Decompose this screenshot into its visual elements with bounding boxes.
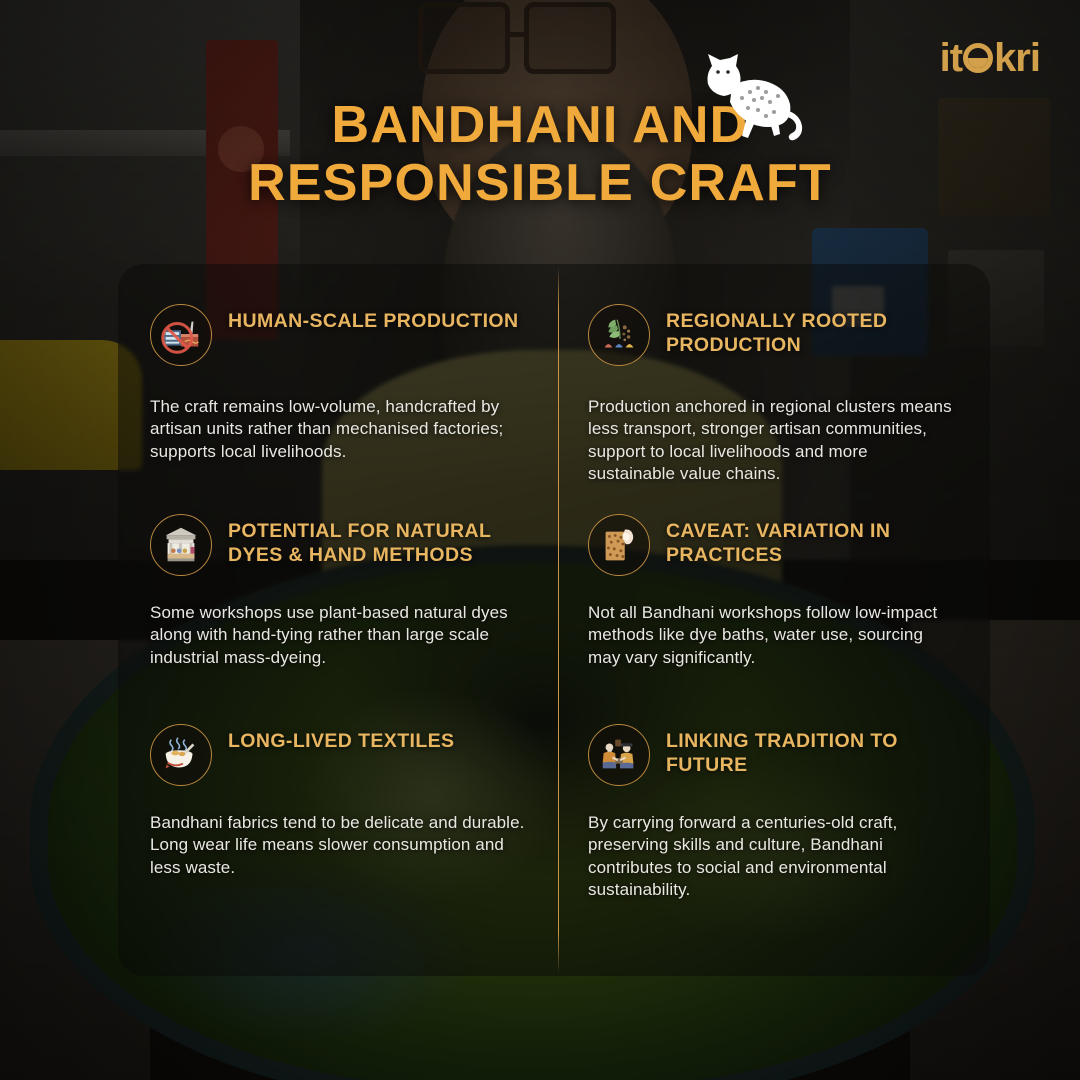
logo-text-post: kri bbox=[994, 38, 1040, 78]
card-body: The craft remains low-volume, handcrafte… bbox=[150, 396, 526, 463]
feature-card: REGIONALLY ROOTED PRODUCTION Production … bbox=[558, 264, 990, 474]
card-header: CAVEAT: VARIATION IN PRACTICES bbox=[588, 514, 958, 576]
two-artisans-icon bbox=[588, 724, 650, 786]
natural-dye-plants-icon bbox=[588, 304, 650, 366]
card-header: LINKING TRADITION TO FUTURE bbox=[588, 724, 958, 786]
cat-illustration-icon bbox=[690, 52, 810, 144]
feature-card-grid: HUMAN-SCALE PRODUCTION The craft remains… bbox=[118, 264, 990, 976]
infographic-poster: itkri BANDHANI AND RESPONSIBLE bbox=[0, 0, 1080, 1080]
title-line-1: BANDHANI AND bbox=[0, 96, 1080, 154]
card-title: REGIONALLY ROOTED PRODUCTION bbox=[666, 304, 958, 358]
card-title: POTENTIAL FOR NATURAL DYES & HAND METHOD… bbox=[228, 514, 526, 568]
steaming-dye-pot-icon bbox=[150, 724, 212, 786]
feature-card: LINKING TRADITION TO FUTURE By carrying … bbox=[558, 684, 990, 914]
feature-card: HUMAN-SCALE PRODUCTION The craft remains… bbox=[118, 264, 558, 474]
card-body: Some workshops use plant-based natural d… bbox=[150, 602, 526, 669]
card-body: Bandhani fabrics tend to be delicate and… bbox=[150, 812, 526, 879]
card-title: CAVEAT: VARIATION IN PRACTICES bbox=[666, 514, 958, 568]
logo-text-pre: it bbox=[940, 38, 962, 78]
card-body: By carrying forward a centuries-old craf… bbox=[588, 812, 958, 902]
card-header: HUMAN-SCALE PRODUCTION bbox=[150, 304, 526, 366]
brand-logo[interactable]: itkri bbox=[940, 38, 1040, 78]
card-body: Not all Bandhani workshops follow low-im… bbox=[588, 602, 958, 669]
no-factory-icon bbox=[150, 304, 212, 366]
feature-card: POTENTIAL FOR NATURAL DYES & HAND METHOD… bbox=[118, 474, 558, 684]
card-header: LONG-LIVED TEXTILES bbox=[150, 724, 526, 786]
card-body: Production anchored in regional clusters… bbox=[588, 396, 958, 486]
workshop-building-icon bbox=[150, 514, 212, 576]
card-title: LONG-LIVED TEXTILES bbox=[228, 724, 454, 754]
bowl-o-icon bbox=[963, 43, 993, 73]
feature-card: LONG-LIVED TEXTILES Bandhani fabrics ten… bbox=[118, 684, 558, 914]
feature-card: CAVEAT: VARIATION IN PRACTICES Not all B… bbox=[558, 474, 990, 684]
card-header: REGIONALLY ROOTED PRODUCTION bbox=[588, 304, 958, 366]
hand-holding-fabric-icon bbox=[588, 514, 650, 576]
card-title: HUMAN-SCALE PRODUCTION bbox=[228, 304, 518, 334]
card-title: LINKING TRADITION TO FUTURE bbox=[666, 724, 958, 778]
card-header: POTENTIAL FOR NATURAL DYES & HAND METHOD… bbox=[150, 514, 526, 576]
title-line-2: RESPONSIBLE CRAFT bbox=[0, 154, 1080, 212]
page-title: BANDHANI AND RESPONSIBLE CRAFT bbox=[0, 96, 1080, 212]
